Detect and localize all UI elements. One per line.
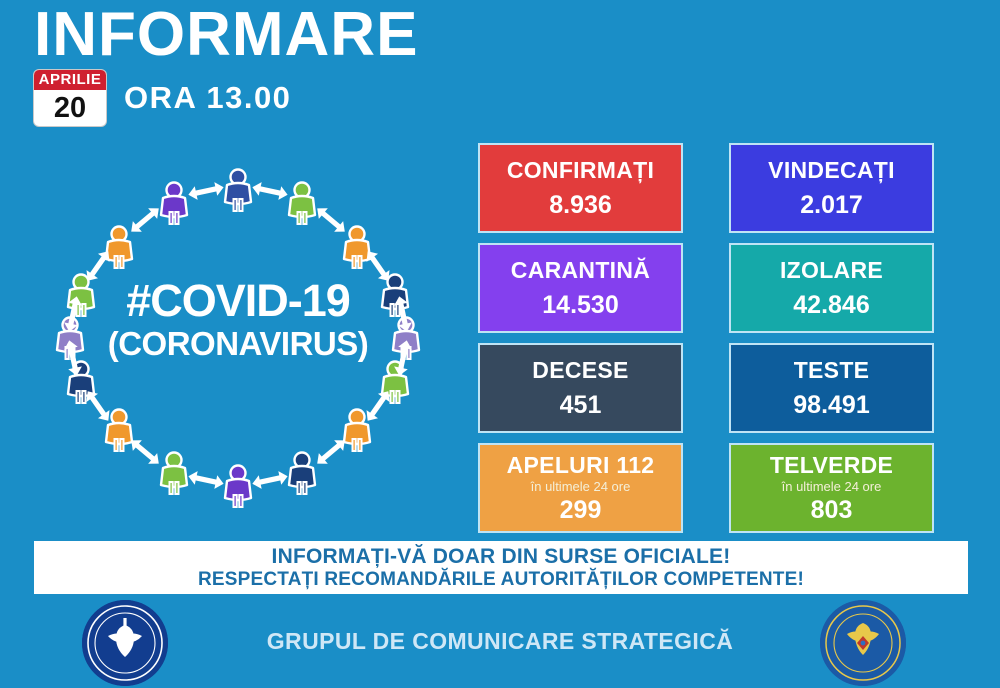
stat-card-vindecati: VINDECAȚI 2.017 — [729, 143, 934, 233]
banner-line-2: RESPECTAȚI RECOMANDĂRILE AUTORITĂȚILOR C… — [198, 569, 804, 591]
stat-label: CONFIRMAȚI — [507, 158, 654, 183]
infographic-root: INFORMARE APRILIE 20 ORA 13.00 — [0, 0, 1000, 688]
stat-label: VINDECAȚI — [768, 158, 895, 183]
stat-card-confirmati: CONFIRMAȚI 8.936 — [478, 143, 683, 233]
stat-value: 803 — [811, 498, 853, 523]
stats-grid: CONFIRMAȚI 8.936 VINDECAȚI 2.017 CARANTI… — [478, 143, 934, 543]
calendar-day: 20 — [34, 90, 106, 126]
stat-card-apeluri-112: APELURI 112 în ultimele 24 ore 299 — [478, 443, 683, 533]
calendar-month: APRILIE — [34, 70, 106, 90]
people-ring-graphic — [28, 158, 448, 514]
banner-line-1: INFORMAȚI-VĂ DOAR DIN SURSE OFICIALE! — [272, 545, 731, 569]
stat-card-teste: TESTE 98.491 — [729, 343, 934, 433]
stat-card-carantina: CARANTINĂ 14.530 — [478, 243, 683, 333]
page-title: INFORMARE — [34, 2, 418, 67]
stat-value: 14.530 — [542, 293, 618, 318]
stats-row-2: CARANTINĂ 14.530 IZOLARE 42.846 — [478, 243, 934, 333]
footer-title: GRUPUL DE COMUNICARE STRATEGICĂ — [190, 628, 810, 655]
stats-row-1: CONFIRMAȚI 8.936 VINDECAȚI 2.017 — [478, 143, 934, 233]
stat-label: TELVERDE — [770, 453, 893, 478]
footer: GRUPUL DE COMUNICARE STRATEGICĂ — [0, 598, 1000, 688]
date-bar: APRILIE 20 ORA 13.00 — [34, 70, 291, 126]
official-sources-banner: INFORMAȚI-VĂ DOAR DIN SURSE OFICIALE! RE… — [34, 541, 968, 594]
stat-sublabel: în ultimele 24 ore — [782, 479, 882, 495]
stat-card-izolare: IZOLARE 42.846 — [729, 243, 934, 333]
stats-row-3: DECESE 451 TESTE 98.491 — [478, 343, 934, 433]
stat-label: APELURI 112 — [507, 453, 655, 478]
stat-value: 299 — [560, 498, 602, 523]
stat-card-telverde: TELVERDE în ultimele 24 ore 803 — [729, 443, 934, 533]
stat-label: DECESE — [532, 358, 628, 383]
departamentul-situatii-urgenta-seal-icon — [820, 600, 906, 686]
stat-card-decese: DECESE 451 — [478, 343, 683, 433]
stat-label: IZOLARE — [780, 258, 883, 283]
covid-circle-illustration: #COVID-19 (CORONAVIRUS) — [28, 158, 448, 514]
stat-value: 98.491 — [793, 393, 869, 418]
stat-value: 2.017 — [800, 193, 863, 218]
stat-value: 42.846 — [793, 293, 869, 318]
stat-value: 451 — [560, 393, 602, 418]
stat-label: TESTE — [794, 358, 870, 383]
stat-sublabel: în ultimele 24 ore — [531, 479, 631, 495]
report-hour: ORA 13.00 — [124, 80, 291, 116]
guvernul-romaniei-seal-icon — [82, 600, 168, 686]
stat-label: CARANTINĂ — [511, 258, 650, 283]
stat-value: 8.936 — [549, 193, 612, 218]
calendar-icon: APRILIE 20 — [34, 70, 106, 126]
stats-row-4: APELURI 112 în ultimele 24 ore 299 TELVE… — [478, 443, 934, 533]
